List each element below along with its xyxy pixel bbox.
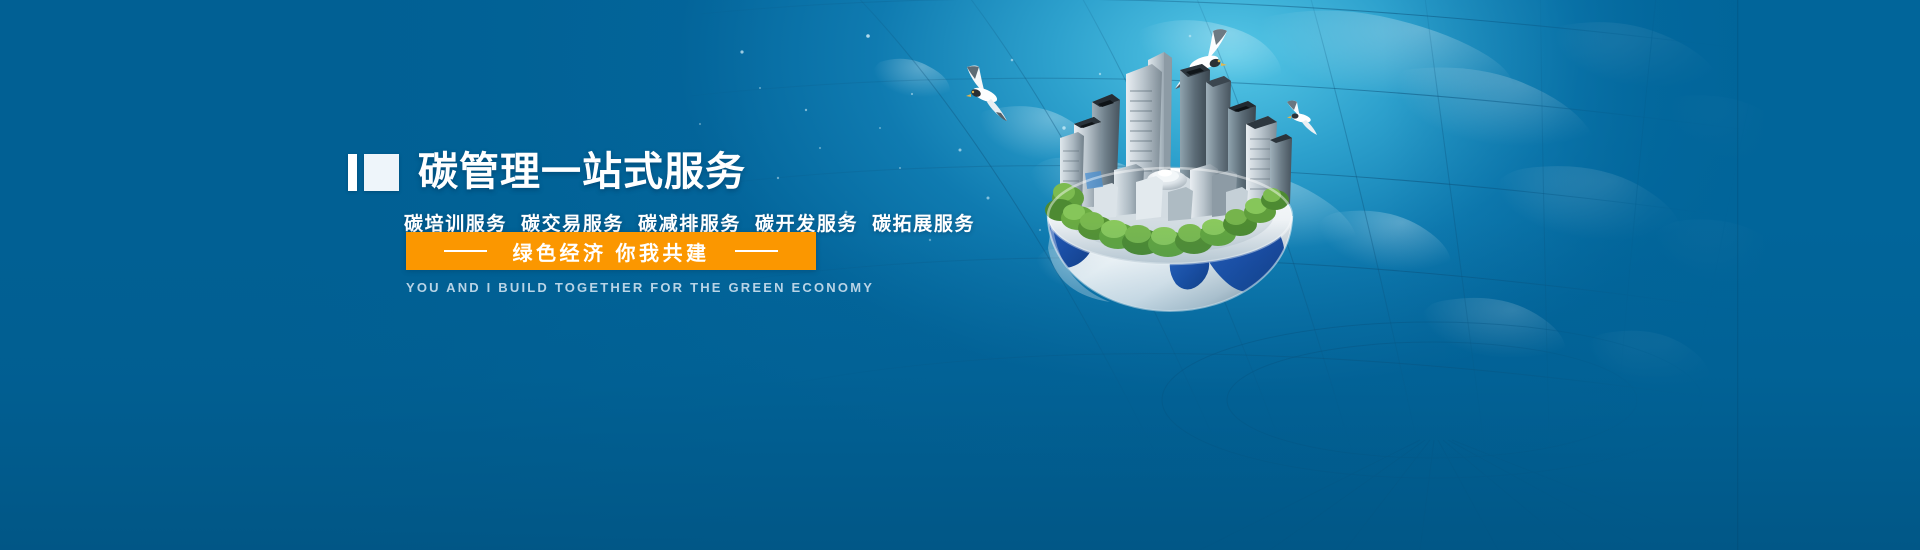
slogan-text: 绿色经济 你我共建 bbox=[512, 237, 709, 266]
slogan-ribbon: 绿色经济 你我共建 bbox=[406, 232, 816, 270]
banner-content: 碳管理一站式服务 碳培训服务 碳交易服务 碳减排服务 碳开发服务 碳拓展服务 绿… bbox=[348, 148, 1068, 236]
page-title: 碳管理一站式服务 bbox=[418, 152, 746, 192]
ribbon-dash-right-icon bbox=[735, 250, 778, 252]
service-item-carbon-expansion: 碳拓展服务 bbox=[872, 209, 975, 236]
background-seam-line bbox=[1737, 0, 1739, 550]
title-row: 碳管理一站式服务 bbox=[348, 148, 1068, 196]
logo-square-icon bbox=[364, 154, 399, 191]
logo-mark bbox=[348, 154, 399, 191]
ribbon-dash-left-icon bbox=[444, 250, 487, 252]
carbon-management-banner: 碳管理一站式服务 碳培训服务 碳交易服务 碳减排服务 碳开发服务 碳拓展服务 绿… bbox=[0, 0, 1920, 550]
logo-bar-icon bbox=[348, 154, 357, 191]
english-tagline: YOU AND I BUILD TOGETHER FOR THE GREEN E… bbox=[406, 280, 816, 295]
background-bottom-fade bbox=[0, 0, 1920, 550]
